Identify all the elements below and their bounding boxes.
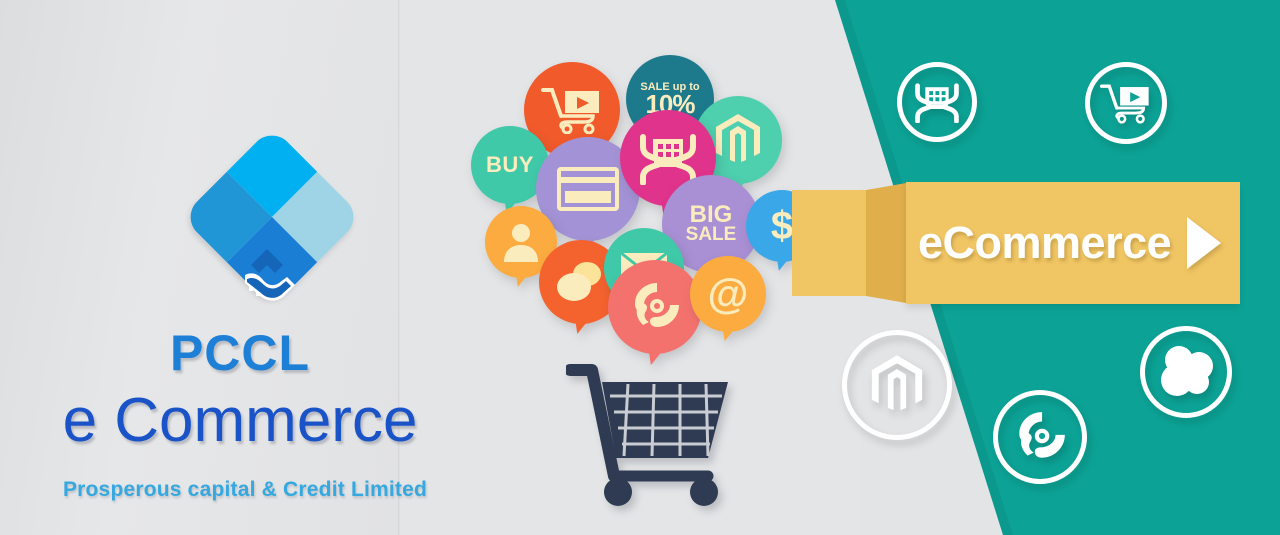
- brand-logo: [186, 131, 354, 309]
- cart-play-icon: [541, 86, 603, 134]
- cloud-blob-icon: [1155, 344, 1217, 400]
- handshake-icon: [227, 235, 313, 313]
- swirl-icon: [1011, 408, 1069, 466]
- big-sale-line2: SALE: [686, 226, 737, 244]
- buy-label: BUY: [486, 154, 534, 176]
- magento-icon: [867, 353, 927, 417]
- bubble-at-sign[interactable]: @: [690, 256, 766, 332]
- credit-card-icon: [557, 167, 619, 211]
- shopping-cart-icon: [566, 358, 746, 506]
- basket-icon: [914, 81, 960, 123]
- circle-icon-magento[interactable]: [842, 330, 952, 440]
- brand-tagline: Prosperous capital & Credit Limited: [0, 478, 490, 502]
- dollar-label: $: [771, 206, 793, 246]
- at-sign-label: @: [708, 273, 749, 315]
- brand-name: PCCL: [0, 324, 480, 382]
- ecommerce-banner: PCCL e Commerce Prosperous capital & Cre…: [0, 0, 1280, 535]
- bubble-swirl[interactable]: [608, 260, 702, 354]
- basket-icon: [639, 131, 697, 185]
- chat-bubbles-icon: [554, 260, 608, 304]
- circle-icon-cloud[interactable]: [1140, 326, 1232, 418]
- brand-product: e Commerce: [0, 385, 480, 456]
- ribbon-label: eCommerce: [918, 217, 1171, 269]
- play-arrow-icon: [1187, 217, 1221, 269]
- cart-play-icon: [1100, 82, 1152, 124]
- circle-icon-swirl[interactable]: [993, 390, 1087, 484]
- swirl-icon: [627, 279, 683, 335]
- circle-icon-basket[interactable]: [897, 62, 977, 142]
- person-icon: [502, 222, 540, 262]
- ecommerce-ribbon[interactable]: eCommerce: [906, 182, 1240, 304]
- circle-icon-cart[interactable]: [1085, 62, 1167, 144]
- big-sale-line1: BIG: [686, 204, 737, 227]
- magento-icon: [712, 112, 764, 168]
